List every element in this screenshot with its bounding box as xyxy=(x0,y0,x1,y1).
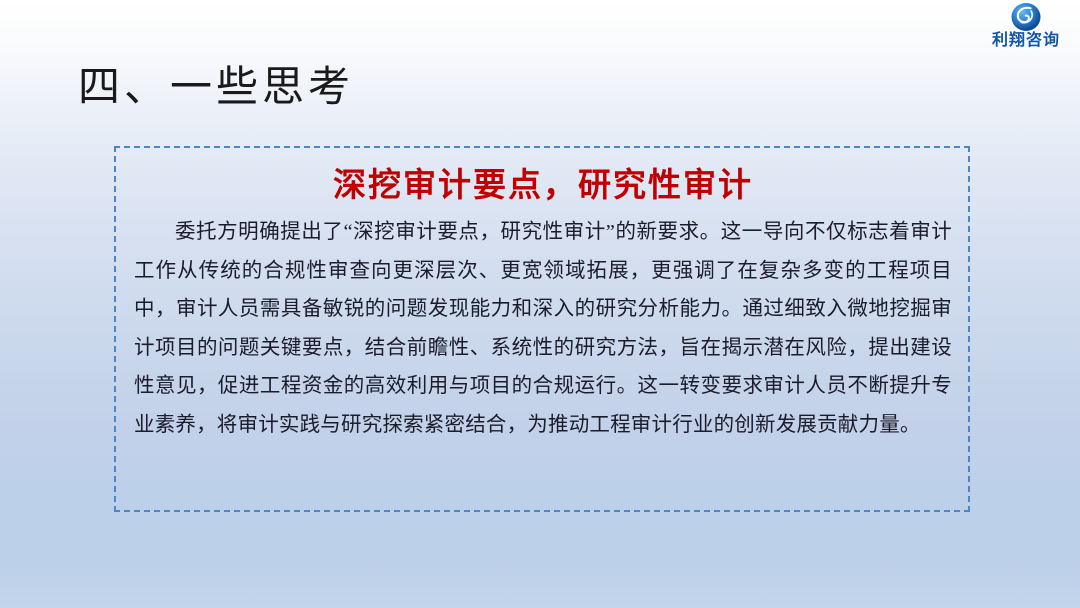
content-heading: 深挖审计要点，研究性审计 xyxy=(132,166,954,207)
company-logo: 利翔咨询 xyxy=(980,2,1072,60)
page-title: 四、一些思考 xyxy=(78,62,354,112)
swirl-circle-icon xyxy=(1009,2,1043,32)
presentation-slide: 利翔咨询 四、一些思考 深挖审计要点，研究性审计 委托方明确提出了“深挖审计要点… xyxy=(0,0,1080,608)
content-box: 深挖审计要点，研究性审计 委托方明确提出了“深挖审计要点，研究性审计”的新要求。… xyxy=(114,146,970,512)
content-paragraph: 委托方明确提出了“深挖审计要点，研究性审计”的新要求。这一导向不仅标志着审计工作… xyxy=(132,213,954,444)
company-logo-text: 利翔咨询 xyxy=(992,33,1060,49)
